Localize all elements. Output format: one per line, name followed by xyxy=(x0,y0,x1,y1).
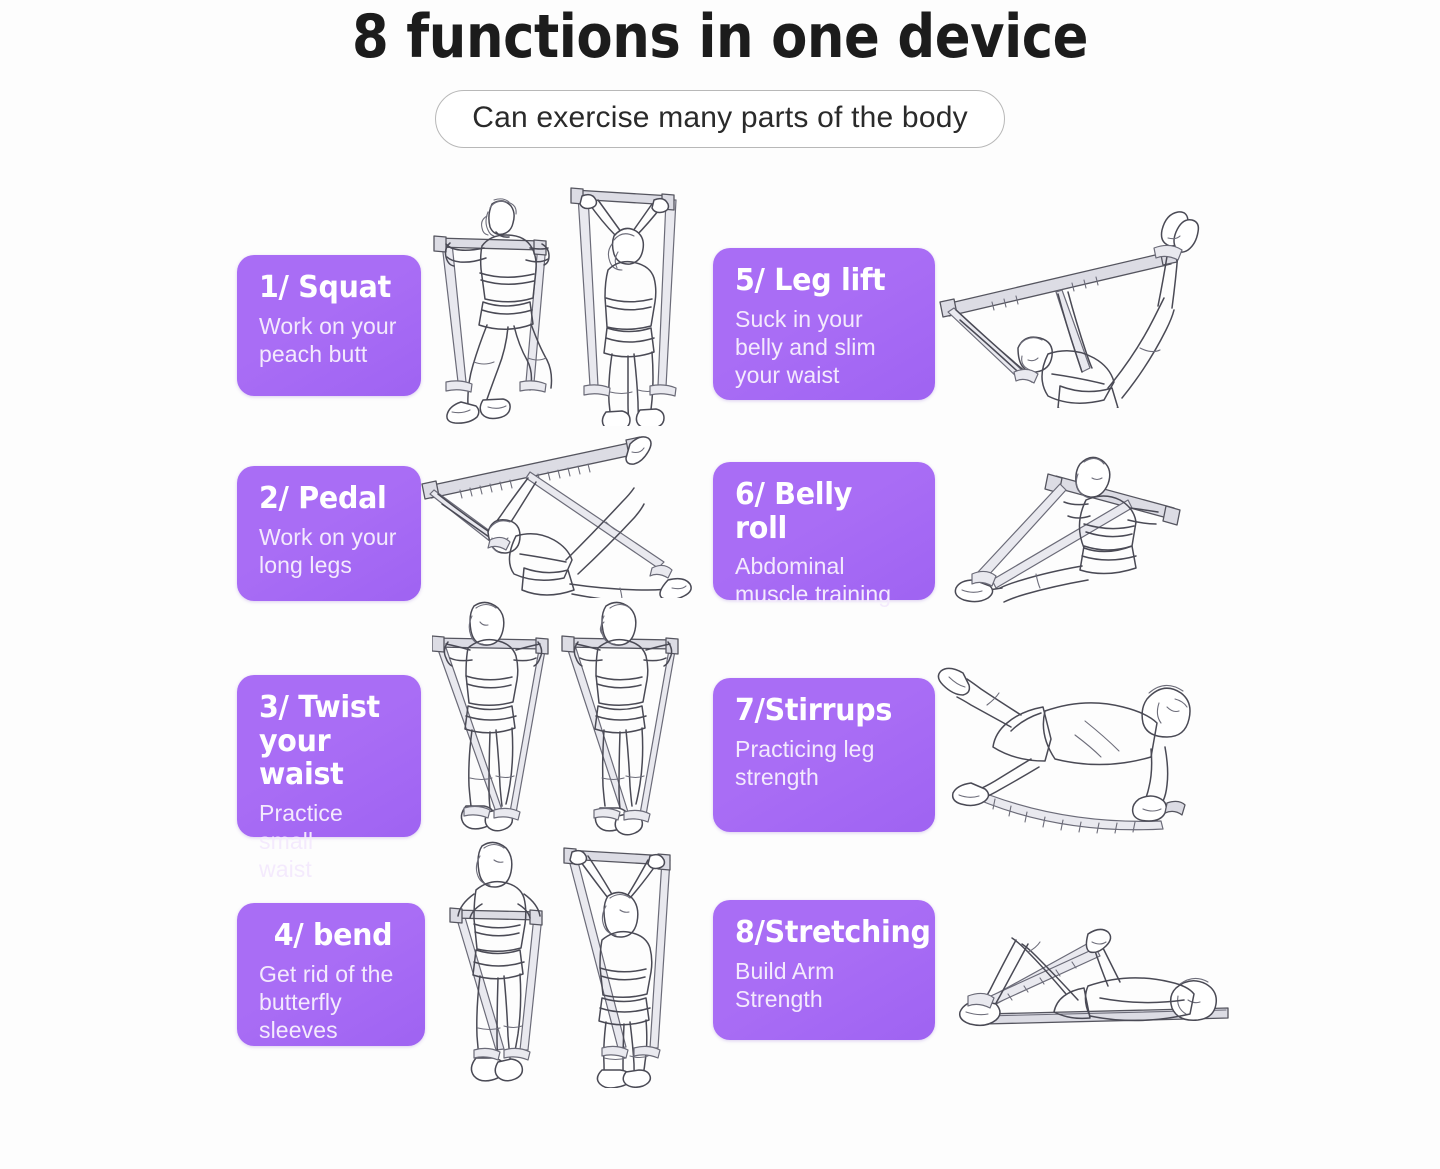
card-desc-leg-lift: Suck in your belly and slim your waist xyxy=(735,305,917,389)
card-squat[interactable]: 1/ Squat Work on your peach butt xyxy=(237,255,421,396)
card-belly-roll[interactable]: 6/ Belly roll Abdominal muscle training xyxy=(713,462,935,600)
card-pedal[interactable]: 2/ Pedal Work on your long legs xyxy=(237,466,421,601)
subtitle-pill: Can exercise many parts of the body xyxy=(435,90,1005,148)
card-title-stirrups: 7/Stirrups xyxy=(735,694,908,728)
functions-grid: 1/ Squat Work on your peach butt xyxy=(0,178,1440,1168)
card-title-squat: 1/ Squat xyxy=(259,271,396,305)
card-desc-stirrups: Practicing leg strength xyxy=(735,735,917,791)
pedal-illustration xyxy=(420,428,710,598)
card-desc-pedal: Work on your long legs xyxy=(259,523,403,579)
card-title-bend: 4/ bend xyxy=(263,919,404,953)
card-desc-belly-roll: Abdominal muscle training xyxy=(735,552,917,608)
squat-illustration xyxy=(430,186,692,426)
card-title-leg-lift: 5/ Leg lift xyxy=(735,264,908,298)
header: 8 functions in one device Can exercise m… xyxy=(0,0,1440,148)
card-stirrups[interactable]: 7/Stirrups Practicing leg strength xyxy=(713,678,935,832)
stirrups-illustration xyxy=(935,643,1235,843)
page-title: 8 functions in one device xyxy=(86,6,1353,69)
stretching-illustration xyxy=(938,896,1238,1036)
card-title-pedal: 2/ Pedal xyxy=(259,482,396,516)
card-leg-lift[interactable]: 5/ Leg lift Suck in your belly and slim … xyxy=(713,248,935,400)
subtitle-text: Can exercise many parts of the body xyxy=(472,101,968,134)
twist-waist-illustration xyxy=(432,600,700,850)
card-desc-bend: Get rid of the butterfly sleeves xyxy=(259,960,407,1044)
card-desc-twist: Practice small waist xyxy=(259,799,403,883)
bend-illustration xyxy=(438,838,698,1088)
card-bend[interactable]: 4/ bend Get rid of the butterfly sleeves xyxy=(237,903,425,1046)
card-title-stretching: 8/Stretching xyxy=(735,916,908,950)
card-title-twist: 3/ Twist your waist xyxy=(259,691,396,792)
card-twist[interactable]: 3/ Twist your waist Practice small waist xyxy=(237,675,421,837)
card-stretching[interactable]: 8/Stretching Build Arm Strength xyxy=(713,900,935,1040)
belly-roll-illustration xyxy=(938,438,1226,618)
card-title-belly-roll: 6/ Belly roll xyxy=(735,478,908,545)
infographic-page: 8 functions in one device Can exercise m… xyxy=(0,0,1440,1169)
leg-lift-illustration xyxy=(932,208,1214,408)
card-desc-squat: Work on your peach butt xyxy=(259,312,403,368)
card-desc-stretching: Build Arm Strength xyxy=(735,957,917,1013)
